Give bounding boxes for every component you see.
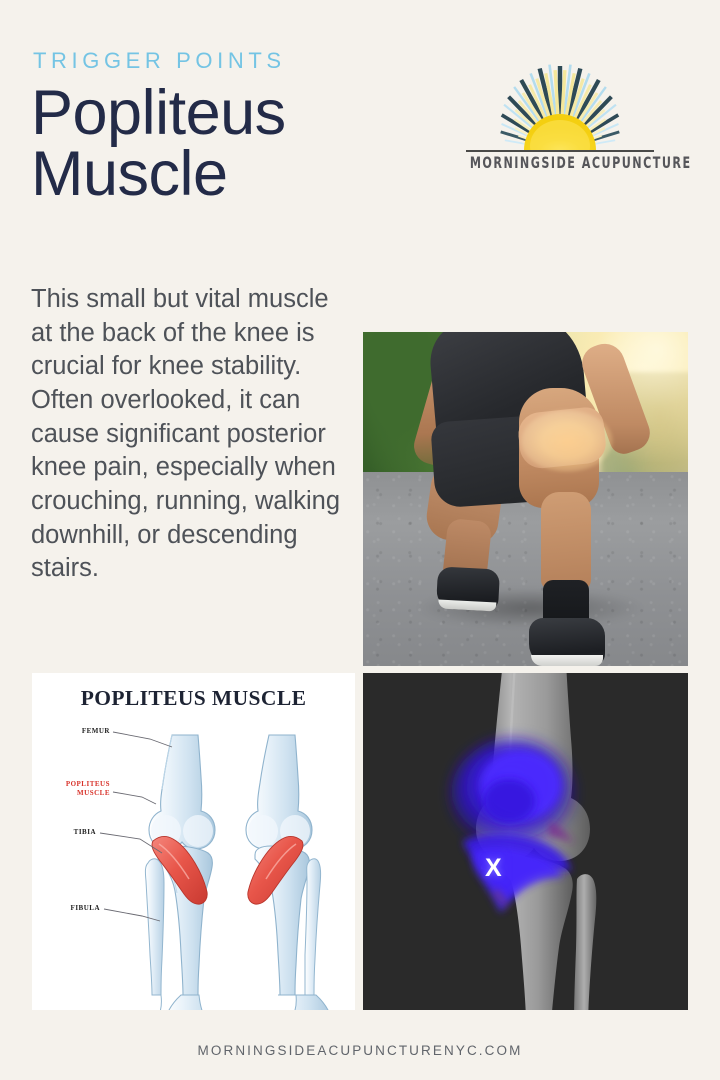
page-title-line-2: Muscle — [31, 144, 431, 205]
photo-runner-right-shoe — [529, 618, 605, 666]
photo-runner-left-shoe — [436, 566, 500, 611]
trigger-point-marker: X — [485, 856, 502, 881]
diagram-label-fibula: FIBULA — [50, 904, 100, 913]
logo-divider — [466, 150, 654, 152]
diagram-leg-left — [108, 735, 224, 1010]
eyebrow-label: TRIGGER POINTS — [33, 48, 286, 74]
runner-knee-pain-photo — [363, 332, 688, 666]
diagram-leg-right — [246, 735, 332, 1010]
header: TRIGGER POINTS Popliteus Muscle — [0, 0, 720, 275]
sunburst-icon — [462, 58, 658, 150]
diagram-label-popliteus-muscle: POPLITEUS MUSCLE — [44, 780, 110, 799]
diagram-illustration — [32, 673, 355, 1010]
page-title-line-1: Popliteus — [31, 78, 286, 148]
diagram-label-femur: FEMUR — [54, 727, 110, 736]
diagram-label-tibia: TIBIA — [54, 828, 96, 837]
page-title: Popliteus Muscle — [31, 83, 431, 205]
logo-wordmark: MORNINGSIDE ACUPUNCTURE — [470, 154, 650, 173]
popliteus-anatomy-diagram: POPLITEUS MUSCLE — [32, 673, 355, 1010]
intro-paragraph: This small but vital muscle at the back … — [31, 283, 356, 586]
photo-runner-right-shin — [541, 492, 591, 590]
footer-website[interactable]: MORNINGSIDEACUPUNCTURENYC.COM — [0, 1043, 720, 1058]
logo[interactable]: MORNINGSIDE ACUPUNCTURE — [462, 58, 658, 174]
trigger-point-referral-map: X — [363, 673, 688, 1010]
trigger-illustration — [363, 673, 688, 1010]
trigger-fibula — [574, 874, 596, 1010]
photo-knee-pain-glow — [521, 410, 613, 472]
